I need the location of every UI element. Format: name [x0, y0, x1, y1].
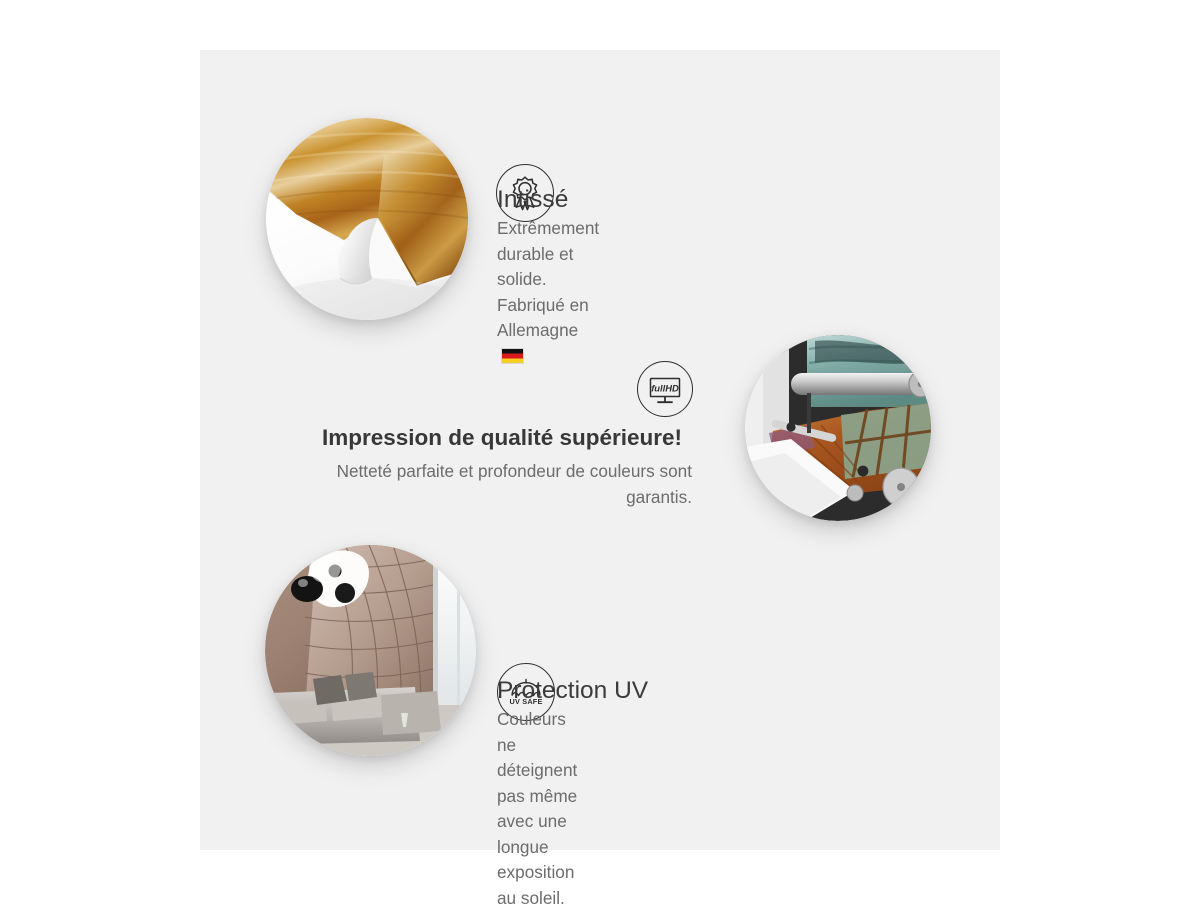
feature-body-line-1: Extrêmement durable et solide.: [497, 216, 599, 293]
feature-body-line-2-text: Fabriqué en Allemagne: [497, 295, 589, 341]
feature-body-uv: Couleurs ne déteignent pas même avec une…: [497, 707, 577, 911]
feature-panel: Intissé Extrêmement durable et solide. F…: [200, 50, 1000, 850]
feature-body-intisse: Extrêmement durable et solide. Fabriqué …: [497, 216, 599, 369]
feature-body-line-2: garantis.: [282, 484, 692, 510]
living-room-geometric-mural-photo: [265, 545, 476, 756]
feature-heading-uv: Protection UV: [497, 677, 648, 705]
feature-heading-intisse: Intissé: [497, 186, 569, 214]
feature-body-line-1: Netteté parfaite et profondeur de couleu…: [282, 458, 692, 484]
fullhd-monitor-icon: fullHD: [637, 361, 693, 417]
german-flag-icon: [501, 348, 524, 364]
feature-body-line-1: Couleurs ne déteignent pas même avec une: [497, 707, 577, 835]
svg-text:fullHD: fullHD: [651, 382, 679, 393]
large-format-printer-photo: [745, 335, 931, 521]
wallpaper-roll-curled-corner-photo: [266, 118, 468, 320]
feature-body-line-2: Fabriqué en Allemagne: [497, 293, 599, 370]
feature-body-impression: Netteté parfaite et profondeur de couleu…: [282, 458, 692, 510]
feature-heading-impression: Impression de qualité supérieure!: [312, 425, 692, 451]
